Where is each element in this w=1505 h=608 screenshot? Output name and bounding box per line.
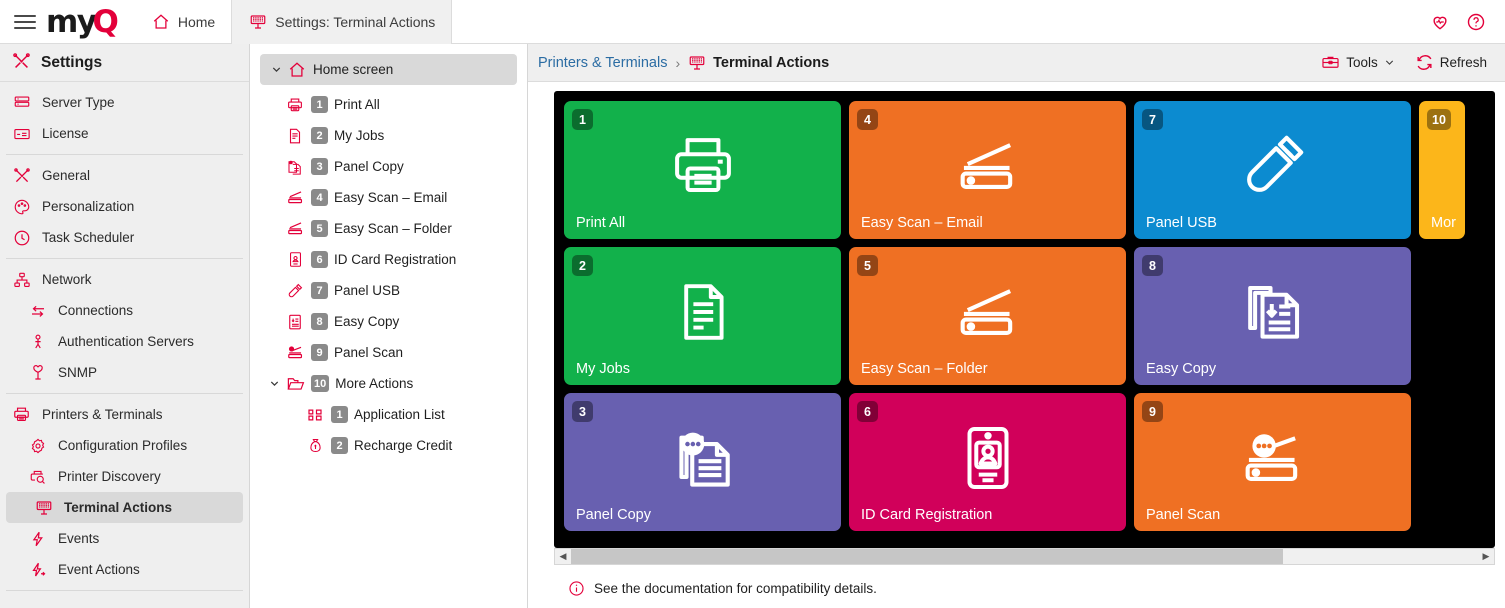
sidebar-item-label: Task Scheduler <box>42 230 134 245</box>
main-content: Printers & Terminals › Terminal Actions <box>528 44 1505 608</box>
panel-scan-icon <box>1235 420 1311 496</box>
breadcrumb-bar: Printers & Terminals › Terminal Actions <box>528 44 1505 82</box>
tab-home[interactable]: Home <box>135 0 231 44</box>
money-bag-icon <box>304 437 326 454</box>
tile-easy-copy[interactable]: 8 Easy Copy <box>1134 247 1411 385</box>
sidebar-header: Settings <box>0 44 249 82</box>
gear-icon <box>28 436 47 455</box>
sidebar-item-label: Network <box>42 272 92 287</box>
tree-root-home-screen[interactable]: Home screen <box>260 54 517 85</box>
tree-item-my-jobs[interactable]: 2 My Jobs <box>250 120 527 151</box>
tools-button[interactable]: Tools <box>1321 53 1395 72</box>
sidebar-item-printer-discovery[interactable]: Printer Discovery <box>0 461 249 492</box>
tab-home-label: Home <box>178 14 215 30</box>
preview-area: 1 Print All <box>528 82 1505 608</box>
tab-settings-label: Settings: Terminal Actions <box>275 14 435 30</box>
usb-icon <box>1235 128 1311 204</box>
tile-more-actions[interactable]: 10 Mor <box>1419 101 1465 239</box>
sidebar-item-license[interactable]: License <box>0 118 249 149</box>
breadcrumb-current: Terminal Actions <box>688 54 829 72</box>
tree-item-badge: 8 <box>311 313 328 330</box>
tile-panel-scan[interactable]: 9 <box>1134 393 1411 531</box>
logo-text: my <box>46 7 96 37</box>
tab-settings-terminal-actions[interactable]: Settings: Terminal Actions <box>231 0 452 44</box>
breadcrumb-actions: Tools <box>1321 53 1495 72</box>
tree-item-label: More Actions <box>335 376 413 391</box>
tile-label: My Jobs <box>576 361 630 377</box>
tree-item-badge: 2 <box>331 437 348 454</box>
document-icon <box>667 276 739 348</box>
printer-icon <box>284 96 306 114</box>
sidebar-item-personalization[interactable]: Personalization <box>0 191 249 222</box>
tile-number: 5 <box>857 255 878 276</box>
panel-copy-icon <box>665 420 741 496</box>
terminal-actions-tree: Home screen 1 Print All <box>250 44 528 608</box>
sidebar-item-terminal-actions[interactable]: Terminal Actions <box>6 492 243 523</box>
sidebar-item-server-type[interactable]: Server Type <box>0 87 249 118</box>
sidebar-group: General Personalization <box>0 155 249 258</box>
tree-item-badge: 2 <box>311 127 328 144</box>
tree-item-easy-scan-email[interactable]: 4 Easy Scan – Email <box>250 182 527 213</box>
preview-horizontal-scrollbar[interactable]: ◀ ▶ <box>554 548 1495 565</box>
tree-item-easy-copy[interactable]: 8 Easy Copy <box>250 306 527 337</box>
tree-item-badge: 4 <box>311 189 328 206</box>
easy-copy-icon <box>1236 275 1310 349</box>
tree-item-badge: 7 <box>311 282 328 299</box>
terminal-icon <box>34 498 53 517</box>
tree-item-badge: 6 <box>311 251 328 268</box>
chevron-down-icon[interactable] <box>1384 57 1395 68</box>
terminal-icon <box>248 12 268 32</box>
tree-item-label: My Jobs <box>334 128 384 143</box>
home-icon <box>286 61 308 79</box>
logo-accent: Q <box>93 7 119 37</box>
tile-label: ID Card Registration <box>861 507 992 523</box>
tree-item-label: Print All <box>334 97 380 112</box>
sidebar-item-task-scheduler[interactable]: Task Scheduler <box>0 222 249 253</box>
sidebar-group: Printers & Terminals Configuration Profi… <box>0 394 249 590</box>
chevron-down-icon[interactable] <box>264 378 284 389</box>
panel-scan-icon <box>284 343 306 362</box>
tile-number: 4 <box>857 109 878 130</box>
tree-item-badge: 3 <box>311 158 328 175</box>
tile-label: Easy Scan – Folder <box>861 361 988 377</box>
sidebar-item-label: Printers & Terminals <box>42 407 163 422</box>
sidebar-item-events[interactable]: Events <box>0 523 249 554</box>
scanner-icon <box>284 219 306 238</box>
tree-item-label: Easy Copy <box>334 314 399 329</box>
tree-item-label: Panel Scan <box>334 345 403 360</box>
home-icon <box>151 12 171 32</box>
folder-icon <box>284 374 306 393</box>
sidebar-item-label: Event Actions <box>58 562 140 577</box>
tree-item-panel-copy[interactable]: 3 Panel Copy <box>250 151 527 182</box>
tile-number: 3 <box>572 401 593 422</box>
clock-icon <box>12 228 31 247</box>
scroll-right-arrow-icon[interactable]: ▶ <box>1478 549 1494 564</box>
sidebar-item-label: Terminal Actions <box>64 500 172 515</box>
tree-item-label: Recharge Credit <box>354 438 452 453</box>
sidebar-group: Network Connections <box>0 259 249 393</box>
tree-item-badge: 1 <box>311 96 328 113</box>
refresh-icon <box>1415 53 1434 72</box>
tree-item-recharge-credit[interactable]: 2 Recharge Credit <box>250 430 527 461</box>
tile-row: 3 <box>564 393 1495 531</box>
sidebar-item-label: Server Type <box>42 95 115 110</box>
chevron-down-icon[interactable] <box>266 64 286 75</box>
tile-easy-scan-folder[interactable]: 5 Easy Scan – Folder <box>849 247 1126 385</box>
tree-item-badge: 10 <box>311 375 329 392</box>
sidebar-groups: Server Type License <box>0 82 249 591</box>
printer-search-icon <box>28 467 47 486</box>
sidebar-item-configuration-profiles[interactable]: Configuration Profiles <box>0 430 249 461</box>
tree-item-label: Easy Scan – Folder <box>334 221 452 236</box>
tile-number: 9 <box>1142 401 1163 422</box>
sidebar-group: Server Type License <box>0 82 249 154</box>
scrollbar-track[interactable] <box>571 549 1478 564</box>
tile-number: 6 <box>857 401 878 422</box>
sidebar-item-label: Authentication Servers <box>58 334 194 349</box>
tile-row: 1 Print All <box>564 101 1495 239</box>
tile-label: Panel USB <box>1146 215 1217 231</box>
printer-icon <box>12 405 31 424</box>
tree-item-label: ID Card Registration <box>334 252 456 267</box>
tools-icon <box>12 166 31 185</box>
tile-number: 8 <box>1142 255 1163 276</box>
terminal-icon <box>688 54 706 72</box>
tools-label: Tools <box>1346 55 1378 70</box>
myq-logo: my Q <box>44 0 135 43</box>
app-window: my Q Home Settings: Terminal Actions <box>0 0 1505 608</box>
top-bar: my Q Home Settings: Terminal Actions <box>0 0 1505 44</box>
tile-id-card-registration[interactable]: 6 <box>849 393 1126 531</box>
sidebar-item-general[interactable]: General <box>0 160 249 191</box>
sidebar-item-printers-terminals[interactable]: Printers & Terminals <box>0 399 249 430</box>
tile-label: Mor <box>1431 215 1456 231</box>
usb-icon <box>284 282 306 300</box>
bolt-icon <box>28 529 47 548</box>
settings-sidebar: Settings Server Type <box>0 44 250 608</box>
tile-grid: 1 Print All <box>564 101 1495 531</box>
license-card-icon <box>12 124 31 143</box>
printer-icon <box>666 129 740 203</box>
tree-item-badge: 9 <box>311 344 328 361</box>
panel-copy-icon <box>284 158 306 176</box>
sidebar-item-connections[interactable]: Connections <box>0 295 249 326</box>
tile-print-all[interactable]: 1 Print All <box>564 101 841 239</box>
connections-arrows-icon <box>28 301 47 320</box>
hamburger-icon[interactable] <box>0 0 44 43</box>
refresh-button[interactable]: Refresh <box>1415 53 1487 72</box>
sidebar-item-label: Configuration Profiles <box>58 438 187 453</box>
tree-item-badge: 5 <box>311 220 328 237</box>
sidebar-item-label: General <box>42 168 90 183</box>
refresh-label: Refresh <box>1440 55 1487 70</box>
scanner-icon <box>950 274 1026 350</box>
breadcrumb-parent[interactable]: Printers & Terminals <box>538 55 667 71</box>
sidebar-item-label: Events <box>58 531 99 546</box>
tree-item-more-actions[interactable]: 10 More Actions <box>250 368 527 399</box>
tile-panel-usb[interactable]: 7 Panel USB <box>1134 101 1411 239</box>
tile-number: 1 <box>572 109 593 130</box>
tree-item-label: Panel Copy <box>334 159 404 174</box>
scanner-icon <box>284 188 306 207</box>
tree-root-label: Home screen <box>313 62 393 77</box>
tree-item-panel-usb[interactable]: 7 Panel USB <box>250 275 527 306</box>
tile-number: 10 <box>1427 109 1451 130</box>
topbar-actions <box>1429 0 1497 44</box>
tile-label: Easy Scan – Email <box>861 215 983 231</box>
scanner-icon <box>950 128 1026 204</box>
tile-easy-scan-email[interactable]: 4 Easy Scan – Email <box>849 101 1126 239</box>
page-title: Terminal Actions <box>713 55 829 71</box>
document-icon <box>284 127 306 145</box>
tile-row: 2 My Jobs 5 <box>564 247 1495 385</box>
settings-tools-icon <box>12 52 31 74</box>
tree-item-panel-scan[interactable]: 9 Panel Scan <box>250 337 527 368</box>
bolt-actions-icon <box>28 560 47 579</box>
scroll-left-arrow-icon[interactable]: ◀ <box>555 549 571 564</box>
tile-my-jobs[interactable]: 2 My Jobs <box>564 247 841 385</box>
terminal-home-screen-preview: 1 Print All <box>554 91 1495 548</box>
apps-grid-icon <box>304 406 326 424</box>
tree-item-label: Application List <box>354 407 445 422</box>
network-icon <box>12 270 31 289</box>
breadcrumb-separator: › <box>675 55 680 71</box>
sidebar-item-network[interactable]: Network <box>0 264 249 295</box>
tree-item-easy-scan-folder[interactable]: 5 Easy Scan – Folder <box>250 213 527 244</box>
sidebar-item-label: Connections <box>58 303 133 318</box>
id-card-icon <box>284 251 306 268</box>
sidebar-item-authentication-servers[interactable]: Authentication Servers <box>0 326 249 357</box>
easy-copy-icon <box>284 313 306 331</box>
user-auth-icon <box>28 332 47 351</box>
palette-icon <box>12 197 31 216</box>
scrollbar-thumb[interactable] <box>571 549 1283 564</box>
tile-label: Panel Scan <box>1146 507 1220 523</box>
toolbox-icon <box>1321 53 1340 72</box>
tile-panel-copy[interactable]: 3 <box>564 393 841 531</box>
tree-item-badge: 1 <box>331 406 348 423</box>
sidebar-item-label: License <box>42 126 89 141</box>
sidebar-item-event-actions[interactable]: Event Actions <box>0 554 249 585</box>
tree-item-id-card-registration[interactable]: 6 ID Card Registration <box>250 244 527 275</box>
note-text: See the documentation for compatibility … <box>594 581 877 596</box>
compatibility-note: See the documentation for compatibility … <box>554 565 1495 597</box>
tile-label: Easy Copy <box>1146 361 1216 377</box>
tile-label: Print All <box>576 215 625 231</box>
tree-item-application-list[interactable]: 1 Application List <box>250 399 527 430</box>
server-icon <box>12 93 31 112</box>
tile-number: 2 <box>572 255 593 276</box>
tree-item-label: Easy Scan – Email <box>334 190 447 205</box>
tile-number: 7 <box>1142 109 1163 130</box>
divider <box>6 590 243 591</box>
sidebar-title: Settings <box>41 54 102 72</box>
id-card-icon <box>951 421 1025 495</box>
tile-label: Panel Copy <box>576 507 651 523</box>
sidebar-item-snmp[interactable]: SNMP <box>0 357 249 388</box>
snmp-icon <box>28 363 47 382</box>
sidebar-item-label: SNMP <box>58 365 97 380</box>
body: Settings Server Type <box>0 44 1505 608</box>
info-icon <box>568 580 585 597</box>
sidebar-item-label: Printer Discovery <box>58 469 161 484</box>
tree-item-label: Panel USB <box>334 283 400 298</box>
health-icon[interactable] <box>1429 11 1451 33</box>
sidebar-item-label: Personalization <box>42 199 134 214</box>
help-icon[interactable] <box>1465 11 1487 33</box>
tree-item-print-all[interactable]: 1 Print All <box>250 89 527 120</box>
